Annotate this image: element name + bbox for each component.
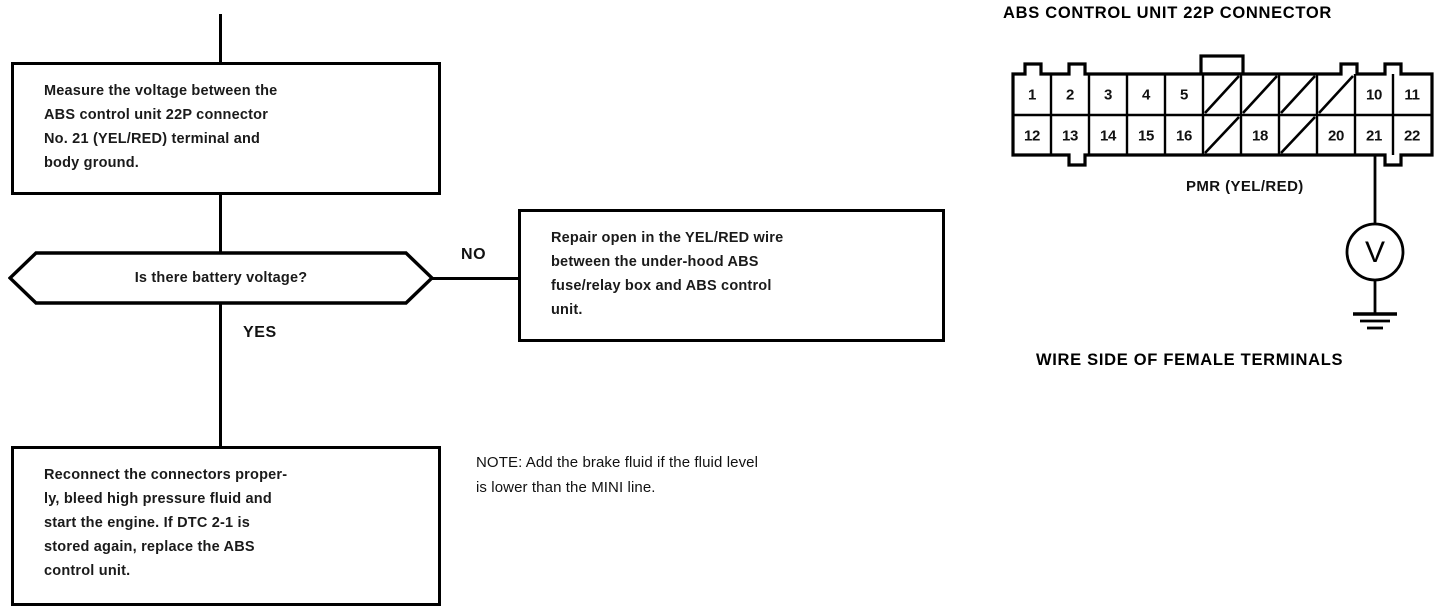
pin-label-21: 21 [1366,128,1382,145]
reconnect-connectors-text: Reconnect the connectors proper- ly, ble… [44,463,428,583]
pin-label-12: 12 [1024,128,1040,145]
pin-label-2: 2 [1066,87,1074,104]
battery-voltage-decision: Is there battery voltage? [8,251,434,305]
yes-branch-label: YES [243,324,277,342]
decision-label: Is there battery voltage? [8,270,434,286]
pin-label-15: 15 [1138,128,1154,145]
connector-title: ABS CONTROL UNIT 22P CONNECTOR [1003,4,1332,23]
flow-line-yes-branch [219,303,222,448]
pin-label-22: 22 [1404,128,1420,145]
voltmeter-label: V [1365,236,1385,269]
flow-line-entry [219,14,222,64]
pin-label-16: 16 [1176,128,1192,145]
pin-label-1: 1 [1028,87,1036,104]
flow-line-measure-to-decision [219,195,222,253]
repair-open-text: Repair open in the YEL/RED wire between … [551,226,932,322]
connector-caption: WIRE SIDE OF FEMALE TERMINALS [1036,351,1343,370]
pin-label-14: 14 [1100,128,1116,145]
diagram-page: Measure the voltage between the ABS cont… [0,0,1456,608]
flow-line-no-branch [430,277,520,280]
no-branch-label: NO [461,246,486,264]
measure-voltage-text: Measure the voltage between the ABS cont… [44,79,428,175]
pin-label-13: 13 [1062,128,1078,145]
pin-label-4: 4 [1142,87,1150,104]
pin-label-11: 11 [1404,87,1419,104]
reconnect-connectors-box: Reconnect the connectors proper- ly, ble… [11,446,441,606]
note-text: NOTE: Add the brake fluid if the fluid l… [476,450,976,500]
pin-label-3: 3 [1104,87,1112,104]
repair-open-box: Repair open in the YEL/RED wire between … [518,209,945,342]
pin-label-20: 20 [1328,128,1344,145]
measure-voltage-box: Measure the voltage between the ABS cont… [11,62,441,195]
pin-label-18: 18 [1252,128,1268,145]
pin-label-5: 5 [1180,87,1188,104]
pin-label-10: 10 [1366,87,1382,104]
pmr-wire-label: PMR (YEL/RED) [1186,178,1304,195]
